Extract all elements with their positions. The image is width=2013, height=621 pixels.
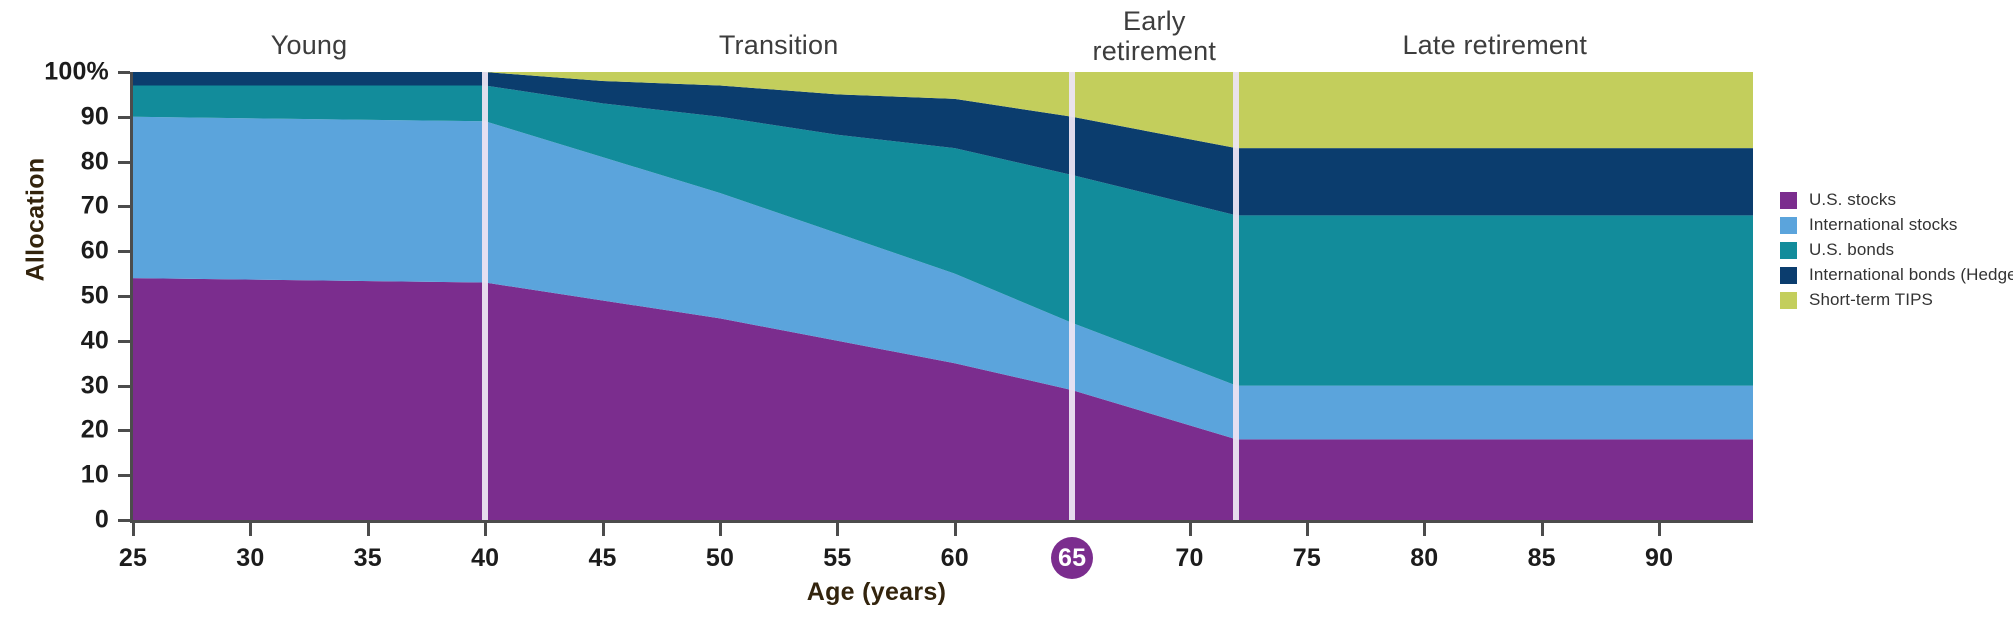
phase-divider-2 <box>1233 72 1239 520</box>
y-tick-mark-90 <box>118 116 130 119</box>
y-tick-label-100: 100% <box>0 58 109 87</box>
x-tick-label-45: 45 <box>588 544 616 573</box>
legend-item-2[interactable]: U.S. bonds <box>1780 238 2013 262</box>
y-tick-mark-50 <box>118 295 130 298</box>
x-tick-label-60: 60 <box>941 544 969 573</box>
y-tick-mark-40 <box>118 340 130 343</box>
glide-path-allocation-chart: YoungTransitionEarly retirementLate reti… <box>0 0 2013 621</box>
y-tick-label-90: 90 <box>0 102 109 131</box>
x-tick-label-55: 55 <box>823 544 851 573</box>
y-tick-mark-70 <box>118 205 130 208</box>
y-tick-label-10: 10 <box>0 461 109 490</box>
x-tick-label-70: 70 <box>1175 544 1203 573</box>
y-tick-label-50: 50 <box>0 282 109 311</box>
legend-swatch-icon <box>1780 217 1797 234</box>
x-tick-label-90: 90 <box>1645 544 1673 573</box>
x-tick-mark-25 <box>132 523 135 536</box>
x-tick-mark-90 <box>1658 523 1661 536</box>
y-tick-mark-100 <box>118 71 130 74</box>
y-tick-label-70: 70 <box>0 192 109 221</box>
y-tick-label-20: 20 <box>0 416 109 445</box>
y-tick-label-30: 30 <box>0 371 109 400</box>
y-tick-label-0: 0 <box>0 506 109 535</box>
chart-legend: U.S. stocksInternational stocksU.S. bond… <box>1780 188 2013 313</box>
x-axis-title: Age (years) <box>0 578 1753 607</box>
legend-swatch-icon <box>1780 292 1797 309</box>
legend-swatch-icon <box>1780 267 1797 284</box>
x-tick-label-85: 85 <box>1528 544 1556 573</box>
x-tick-label-30: 30 <box>236 544 264 573</box>
x-axis-line <box>130 520 1753 523</box>
plot-area <box>133 72 1753 520</box>
x-tick-label-50: 50 <box>706 544 734 573</box>
y-tick-mark-30 <box>118 385 130 388</box>
legend-item-3[interactable]: International bonds (Hedged) <box>1780 263 2013 287</box>
legend-swatch-icon <box>1780 192 1797 209</box>
x-tick-mark-55 <box>836 523 839 536</box>
legend-label: International bonds (Hedged) <box>1809 265 2013 285</box>
x-tick-label-highlight-65: 65 <box>1051 537 1093 579</box>
x-tick-label-40: 40 <box>471 544 499 573</box>
x-tick-mark-60 <box>954 523 957 536</box>
x-tick-mark-70 <box>1189 523 1192 536</box>
phase-label-3: Late retirement <box>1305 30 1685 60</box>
legend-swatch-icon <box>1780 242 1797 259</box>
legend-label: U.S. bonds <box>1809 240 1894 260</box>
stacked-area-svg <box>133 72 1753 520</box>
y-tick-label-40: 40 <box>0 326 109 355</box>
x-tick-label-25: 25 <box>119 544 147 573</box>
legend-item-0[interactable]: U.S. stocks <box>1780 188 2013 212</box>
phase-label-1: Transition <box>589 30 969 60</box>
y-tick-mark-60 <box>118 250 130 253</box>
x-tick-mark-40 <box>484 523 487 536</box>
x-tick-label-75: 75 <box>1293 544 1321 573</box>
legend-item-1[interactable]: International stocks <box>1780 213 2013 237</box>
x-tick-mark-80 <box>1423 523 1426 536</box>
x-tick-mark-30 <box>249 523 252 536</box>
phase-divider-0 <box>482 72 488 520</box>
x-tick-mark-35 <box>367 523 370 536</box>
legend-label: Short-term TIPS <box>1809 290 1933 310</box>
legend-item-4[interactable]: Short-term TIPS <box>1780 288 2013 312</box>
y-tick-label-60: 60 <box>0 237 109 266</box>
y-tick-mark-0 <box>118 519 130 522</box>
x-tick-label-80: 80 <box>1410 544 1438 573</box>
x-tick-mark-75 <box>1306 523 1309 536</box>
legend-label: U.S. stocks <box>1809 190 1896 210</box>
x-tick-mark-85 <box>1541 523 1544 536</box>
y-tick-mark-20 <box>118 429 130 432</box>
phase-label-0: Young <box>119 30 499 60</box>
legend-label: International stocks <box>1809 215 1957 235</box>
x-tick-mark-50 <box>719 523 722 536</box>
y-tick-mark-10 <box>118 474 130 477</box>
y-tick-mark-80 <box>118 161 130 164</box>
y-tick-label-80: 80 <box>0 147 109 176</box>
phase-label-2: Early retirement <box>964 6 1344 66</box>
x-tick-mark-45 <box>602 523 605 536</box>
phase-divider-1 <box>1069 72 1075 520</box>
x-tick-label-35: 35 <box>354 544 382 573</box>
